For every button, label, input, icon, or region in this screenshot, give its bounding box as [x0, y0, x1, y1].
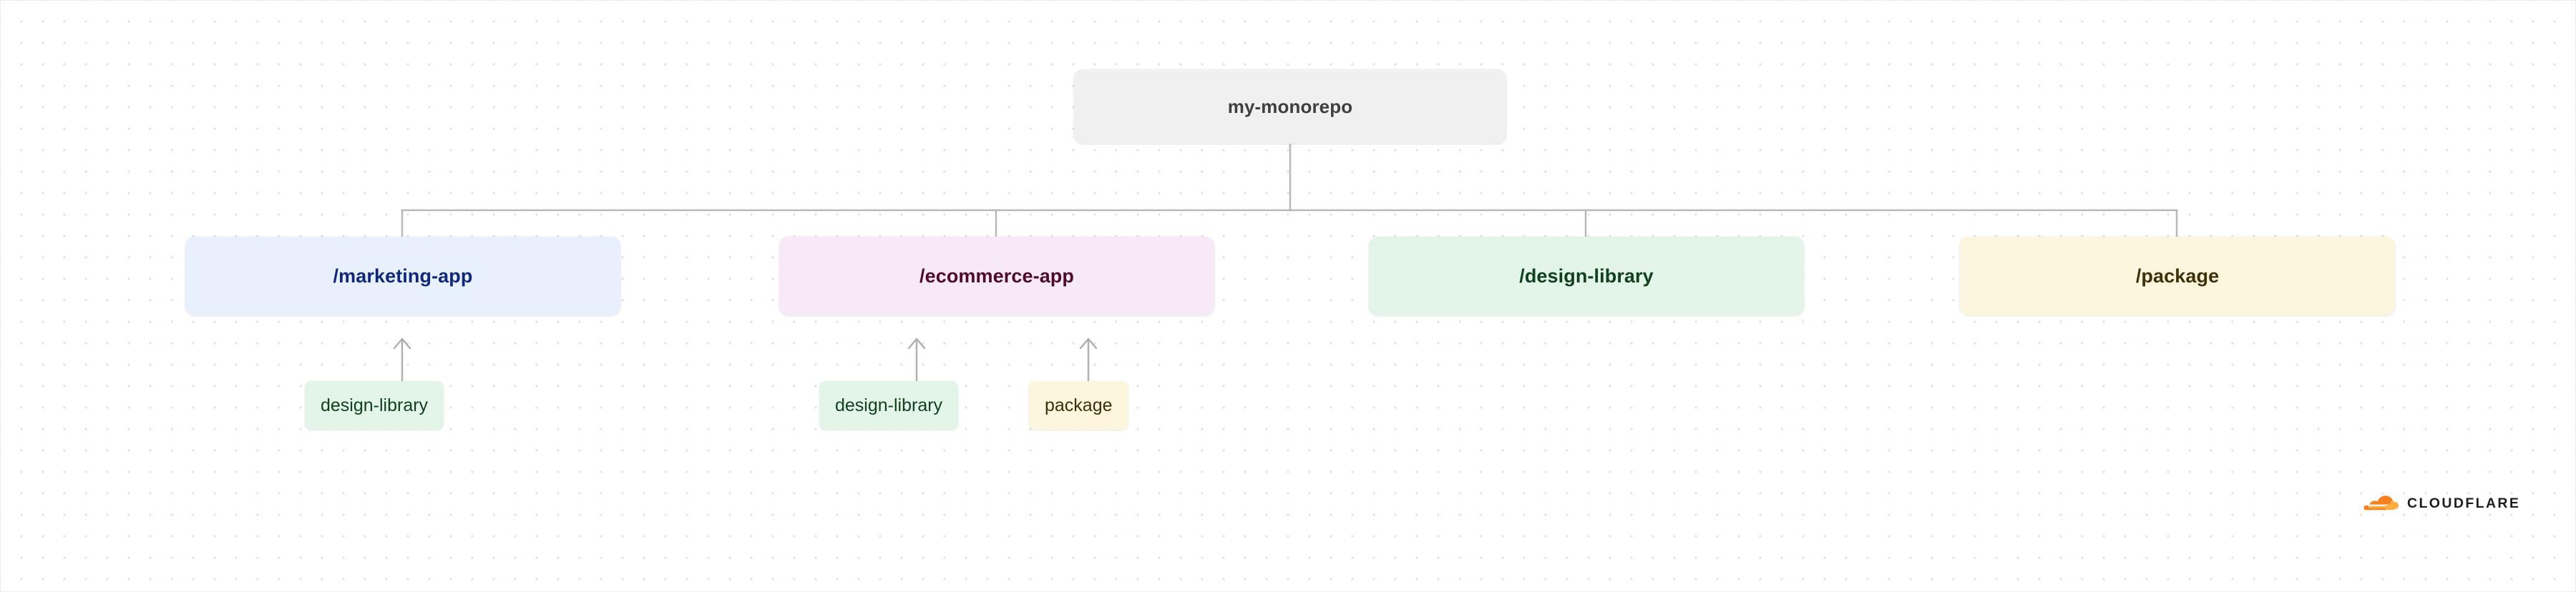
dependency-pill-ecommerce-design-library[interactable]: design-library [819, 381, 958, 430]
node-marketing-app[interactable]: /marketing-app [185, 237, 620, 315]
node-label: /ecommerce-app [919, 265, 1074, 287]
node-design-library[interactable]: /design-library [1369, 237, 1804, 315]
arrowhead-ecommerce-design [909, 339, 924, 348]
cloudflare-logo: CLOUDFLARE [2363, 494, 2520, 513]
node-my-monorepo[interactable]: my-monorepo [1074, 69, 1506, 144]
node-ecommerce-app[interactable]: /ecommerce-app [779, 237, 1214, 315]
dependency-pill-ecommerce-package[interactable]: package [1029, 381, 1128, 430]
cloudflare-wordmark: CLOUDFLARE [2407, 497, 2520, 511]
dependency-pill-label: package [1045, 395, 1113, 416]
node-label: my-monorepo [1228, 96, 1352, 118]
dependency-pill-marketing-design-library[interactable]: design-library [305, 381, 444, 430]
diagram-canvas: my-monorepo /marketing-app /ecommerce-ap… [0, 0, 2576, 592]
node-package[interactable]: /package [1960, 237, 2395, 315]
node-label: /design-library [1519, 265, 1654, 287]
dependency-pill-label: design-library [835, 395, 942, 416]
cloudflare-cloud-icon [2363, 494, 2401, 513]
node-label: /marketing-app [333, 265, 473, 287]
arrowhead-marketing-design [394, 339, 410, 348]
node-label: /package [2136, 265, 2219, 287]
arrowhead-ecommerce-package [1080, 339, 1096, 348]
dependency-pill-label: design-library [321, 395, 428, 416]
